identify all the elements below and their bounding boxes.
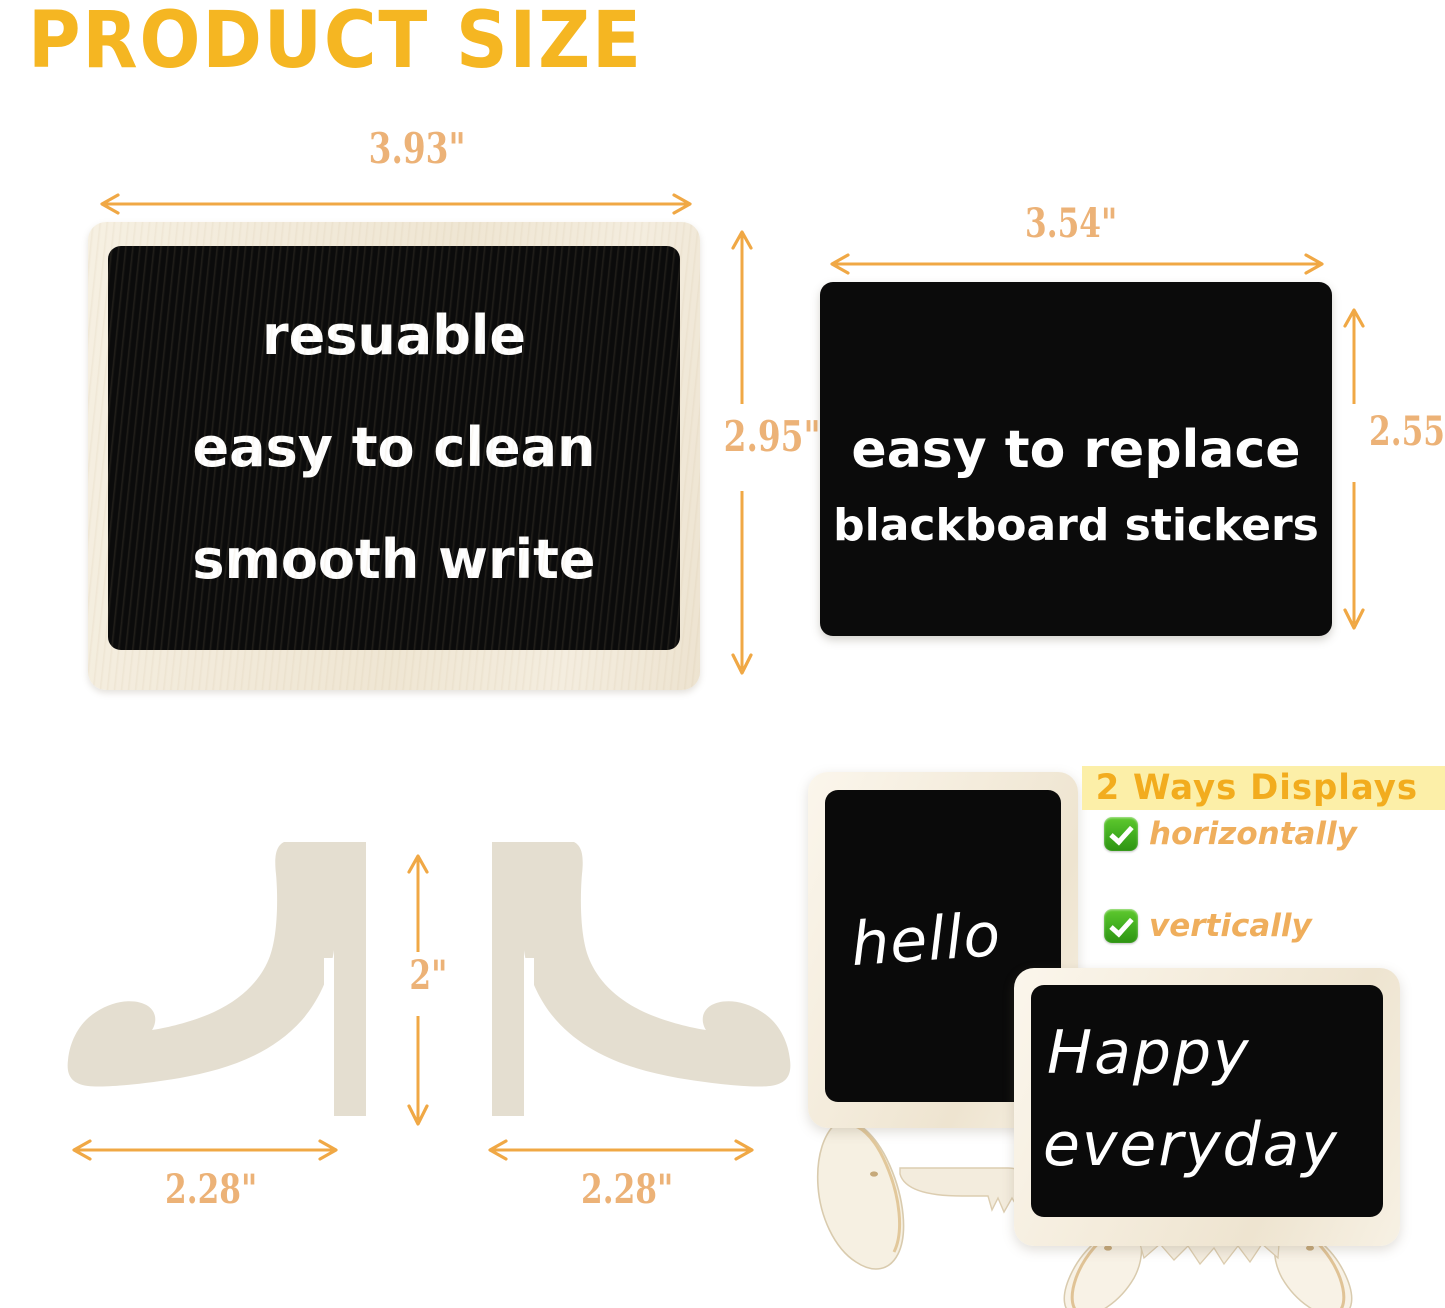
dimension-arrow-stand-height-bottom — [404, 1012, 432, 1134]
green-check-icon — [1104, 817, 1138, 851]
chalkboard-surface-large: resuable easy to clean smooth write — [108, 246, 680, 650]
ways-option-vertically: vertically — [1104, 908, 1312, 944]
dimension-arrow-board-height-bottom — [728, 487, 756, 683]
dimension-arrow-sticker-height-bottom — [1340, 478, 1368, 638]
scene-text-everyday: everyday — [1043, 1110, 1339, 1180]
easel-stand-left — [62, 838, 380, 1128]
dimension-label-stand-left-width: 2.28" — [165, 1166, 257, 1213]
product-size-infographic: PRODUCT SIZE 3.93" resuable easy to clea… — [0, 0, 1445, 1308]
ways-option-horizontally: horizontally — [1104, 816, 1357, 852]
dimension-arrow-stand-height-top — [404, 846, 432, 956]
chalk-line-3: smooth write — [192, 533, 595, 587]
dimension-label-sticker-width: 3.54" — [1025, 200, 1117, 247]
chalk-line-1: resuable — [262, 309, 526, 363]
dimension-arrow-sticker-width — [822, 250, 1332, 278]
green-check-icon — [1104, 909, 1138, 943]
dimension-arrow-stand-right-width — [480, 1136, 762, 1164]
dimension-label-board-width: 3.93" — [369, 124, 466, 173]
dimension-arrow-board-width — [92, 190, 700, 218]
scene-board-horizontal — [1014, 968, 1400, 1246]
product-board-large: resuable easy to clean smooth write — [88, 222, 700, 690]
sticker-line-1: easy to replace — [851, 420, 1300, 480]
ways-displays-heading-band: 2 Ways Displays — [1082, 766, 1445, 810]
scene-text-happy: Happy — [1047, 1018, 1251, 1088]
dimension-label-stand-height: 2" — [409, 952, 447, 999]
chalk-line-2: easy to clean — [193, 421, 596, 475]
ways-displays-heading: 2 Ways Displays — [1082, 768, 1418, 808]
dimension-arrow-sticker-height-top — [1340, 300, 1368, 408]
dimension-label-stand-right-width: 2.28" — [581, 1166, 673, 1213]
blackboard-sticker: easy to replace blackboard stickers — [820, 282, 1332, 636]
dimension-label-sticker-height: 2.55" — [1369, 408, 1445, 455]
ways-option-label-horizontally: horizontally — [1149, 816, 1357, 852]
dimension-arrow-stand-left-width — [64, 1136, 346, 1164]
sticker-line-2: blackboard stickers — [833, 500, 1319, 551]
scene-text-hello: hello — [849, 900, 1004, 980]
dimension-arrow-board-height-top — [728, 222, 756, 410]
page-title: PRODUCT SIZE — [28, 0, 643, 86]
ways-option-label-vertically: vertically — [1149, 908, 1312, 944]
easel-stand-right — [478, 838, 796, 1128]
dimension-label-board-height: 2.95" — [724, 412, 821, 461]
